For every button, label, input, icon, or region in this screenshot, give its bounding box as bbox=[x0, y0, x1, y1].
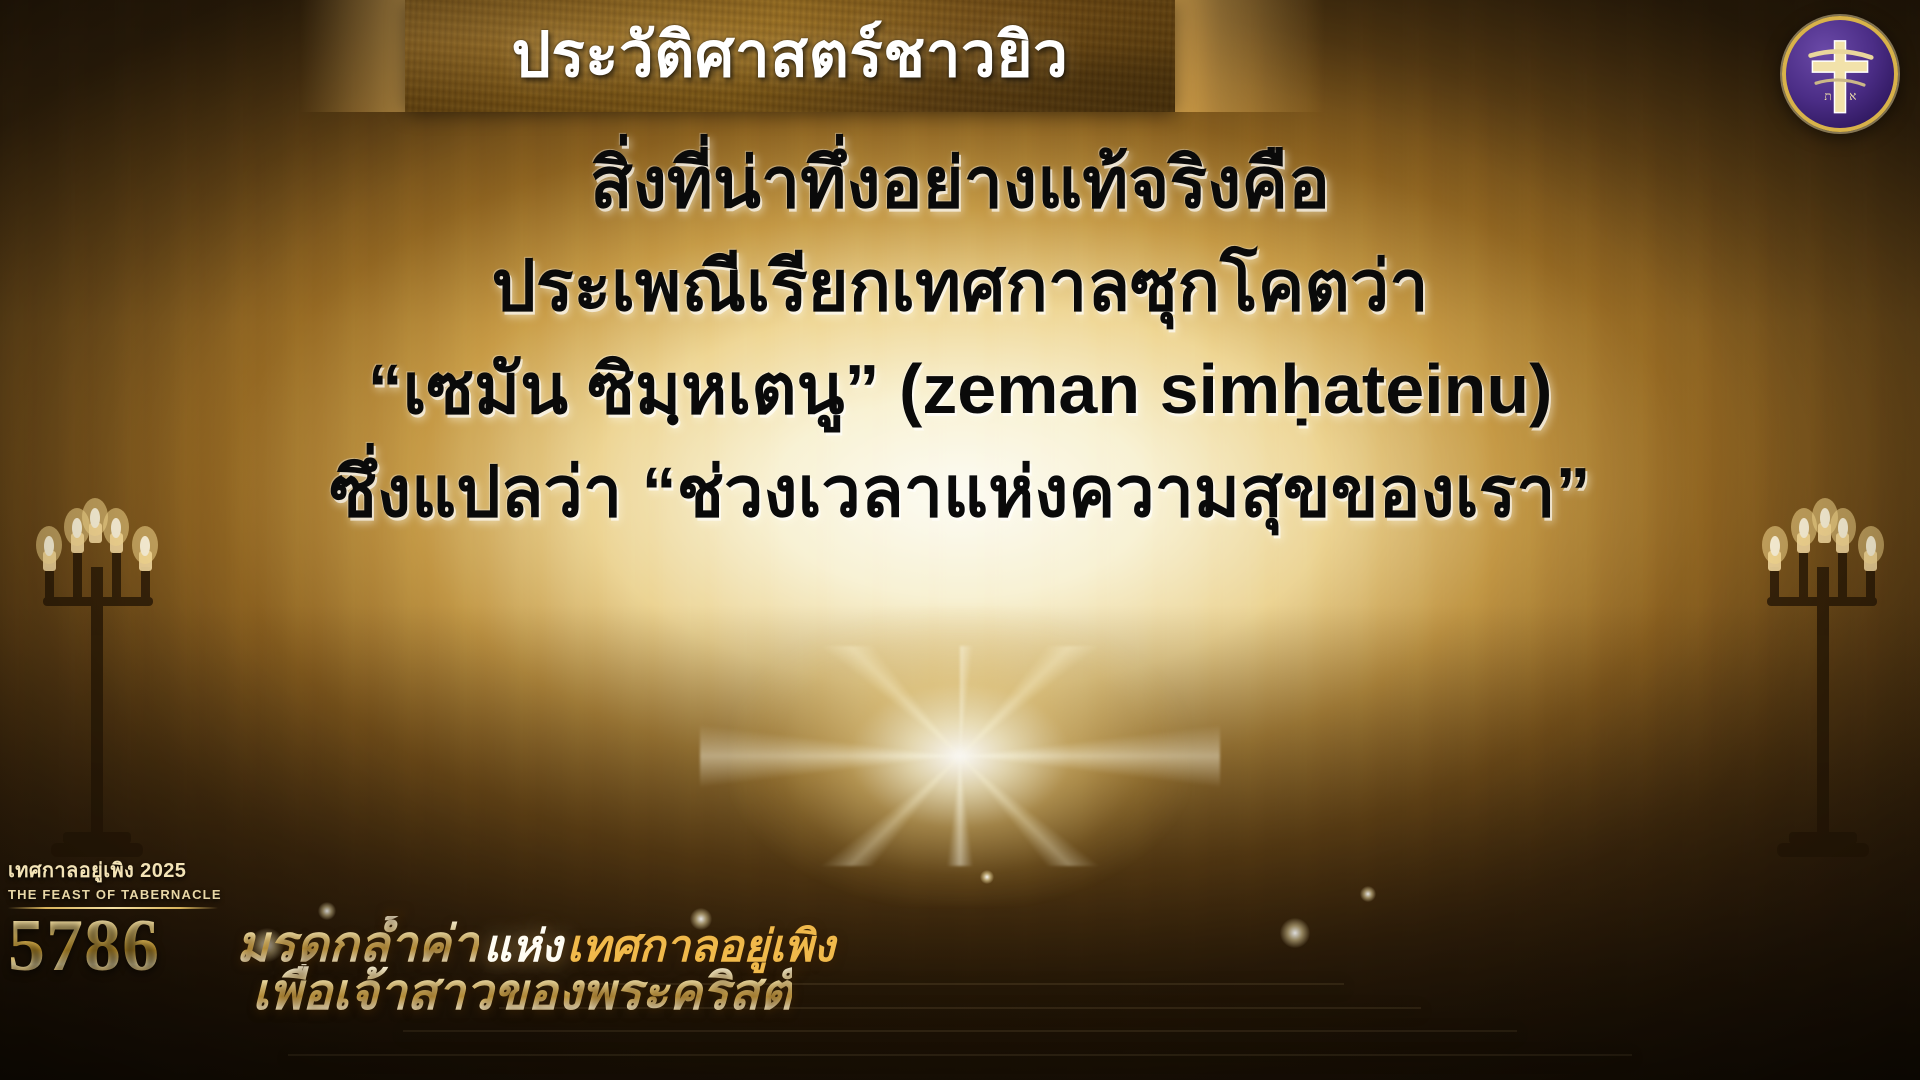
stage-step bbox=[403, 1030, 1517, 1032]
page-title: ประวัติศาสตร์ชาวยิว bbox=[512, 25, 1069, 87]
body-line-3: “เซมัน ซิมฺหเตนู” (zeman simḥateinu) bbox=[40, 338, 1880, 441]
presentation-slide: ประวัติศาสตร์ชาวยิว ת א สิ่งที่น่าทึ่งอย… bbox=[0, 0, 1920, 1080]
svg-text:ת: ת bbox=[1824, 89, 1831, 103]
stage-floor bbox=[0, 605, 1920, 1080]
stage-step bbox=[288, 1054, 1632, 1056]
cross-icon bbox=[1811, 41, 1872, 113]
slide-body-text: สิ่งที่น่าทึ่งอย่างแท้จริงคือ ประเพณีเรี… bbox=[0, 132, 1920, 544]
body-line-1: สิ่งที่น่าทึ่งอย่างแท้จริงคือ bbox=[40, 132, 1880, 235]
stage-step bbox=[499, 1007, 1421, 1009]
body-line-4: ซึ่งแปลว่า “ช่วงเวลาแห่งความสุขของเรา” bbox=[40, 441, 1880, 544]
slide-title-banner: ประวัติศาสตร์ชาวยิว bbox=[405, 0, 1175, 112]
stage-step bbox=[576, 983, 1344, 985]
body-line-2: ประเพณีเรียกเทศกาลซุกโคตว่า bbox=[40, 235, 1880, 338]
cross-emblem-logo: ת א bbox=[1782, 16, 1898, 132]
svg-text:א: א bbox=[1849, 89, 1856, 103]
